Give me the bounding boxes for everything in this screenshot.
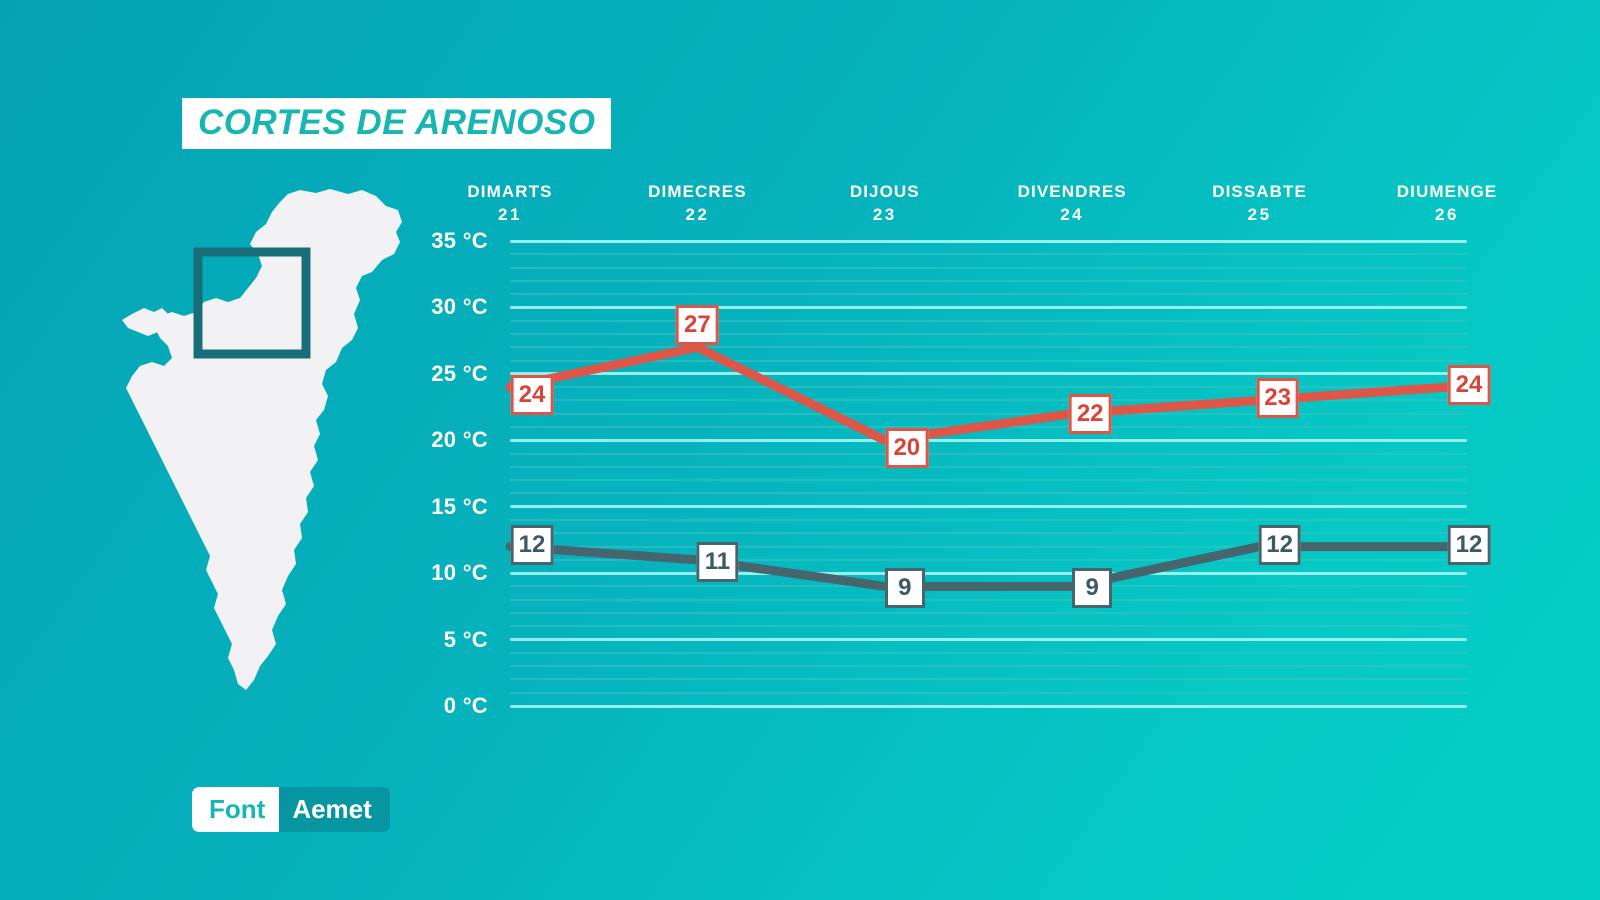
page-title-banner: CORTES DE ARENOSO bbox=[182, 98, 611, 149]
max-temp-line bbox=[510, 347, 1447, 440]
min-temp-value-label: 12 bbox=[1448, 525, 1491, 565]
min-temp-value-label: 12 bbox=[1258, 525, 1301, 565]
map-region-shape bbox=[122, 189, 402, 690]
page-title: CORTES DE ARENOSO bbox=[198, 105, 595, 140]
source-label: Font bbox=[192, 787, 279, 832]
max-temp-value-label: 20 bbox=[885, 428, 928, 468]
max-temp-value-label: 24 bbox=[1448, 365, 1491, 405]
chart-plot-lines bbox=[415, 165, 1525, 725]
source-badge: Font Aemet bbox=[192, 787, 390, 832]
min-temp-value-label: 9 bbox=[1072, 568, 1112, 608]
temperature-chart: 0 °C5 °C10 °C15 °C20 °C25 °C30 °C35 °C D… bbox=[415, 165, 1525, 725]
source-name: Aemet bbox=[279, 787, 389, 832]
min-temp-value-label: 12 bbox=[511, 525, 554, 565]
max-temp-value-label: 24 bbox=[511, 375, 554, 415]
min-temp-value-label: 11 bbox=[697, 542, 738, 582]
max-temp-value-label: 23 bbox=[1256, 378, 1299, 418]
region-map bbox=[110, 180, 440, 750]
max-temp-value-label: 22 bbox=[1069, 394, 1112, 434]
min-temp-value-label: 9 bbox=[885, 568, 925, 608]
max-temp-value-label: 27 bbox=[676, 305, 719, 345]
min-temp-line bbox=[510, 547, 1447, 587]
